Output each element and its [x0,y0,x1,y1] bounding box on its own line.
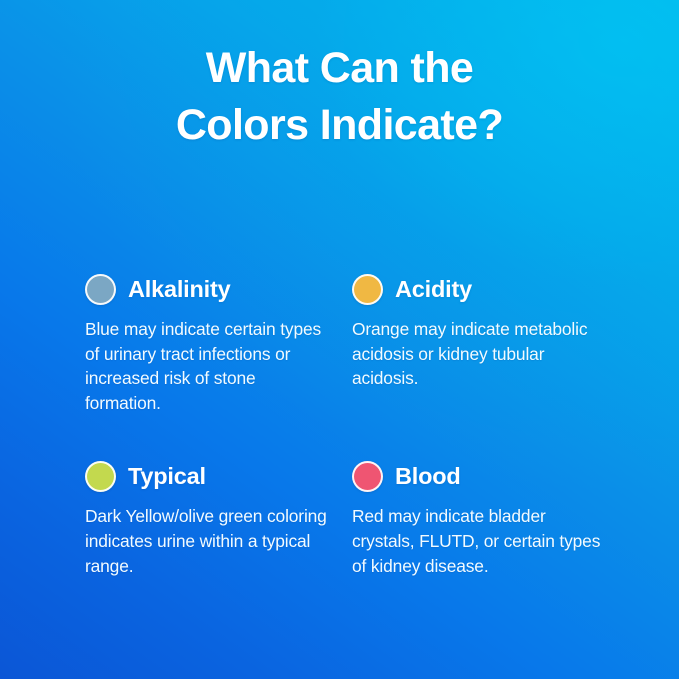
legend-label-acidity: Acidity [395,276,472,302]
alkalinity-color-swatch-icon [85,274,116,305]
acidity-color-swatch-icon [352,274,383,305]
legend-description-alkalinity: Blue may indicate certain types of urina… [85,317,335,415]
legend-header-alkalinity: Alkalinity [85,272,352,306]
blood-color-swatch-icon [352,461,383,492]
legend-description-typical: Dark Yellow/olive green coloring indicat… [85,504,335,578]
legend-header-typical: Typical [85,459,352,493]
legend-item-typical: Typical Dark Yellow/olive green coloring… [85,459,352,578]
legend-label-typical: Typical [128,463,206,489]
legend-label-blood: Blood [395,463,461,489]
legend-header-blood: Blood [352,459,605,493]
page-title: What Can the Colors Indicate? [0,40,679,154]
legend-item-acidity: Acidity Orange may indicate metabolic ac… [352,272,605,415]
color-legend-grid: Alkalinity Blue may indicate certain typ… [85,272,605,578]
legend-item-alkalinity: Alkalinity Blue may indicate certain typ… [85,272,352,415]
legend-description-blood: Red may indicate bladder crystals, FLUTD… [352,504,602,578]
infographic-card: What Can the Colors Indicate? Alkalinity… [0,0,679,679]
legend-header-acidity: Acidity [352,272,605,306]
title-line-2: Colors Indicate? [0,97,679,154]
typical-color-swatch-icon [85,461,116,492]
legend-item-blood: Blood Red may indicate bladder crystals,… [352,459,605,578]
card-content: What Can the Colors Indicate? Alkalinity… [0,0,679,679]
title-line-1: What Can the [0,40,679,97]
legend-description-acidity: Orange may indicate metabolic acidosis o… [352,317,602,391]
legend-label-alkalinity: Alkalinity [128,276,230,302]
